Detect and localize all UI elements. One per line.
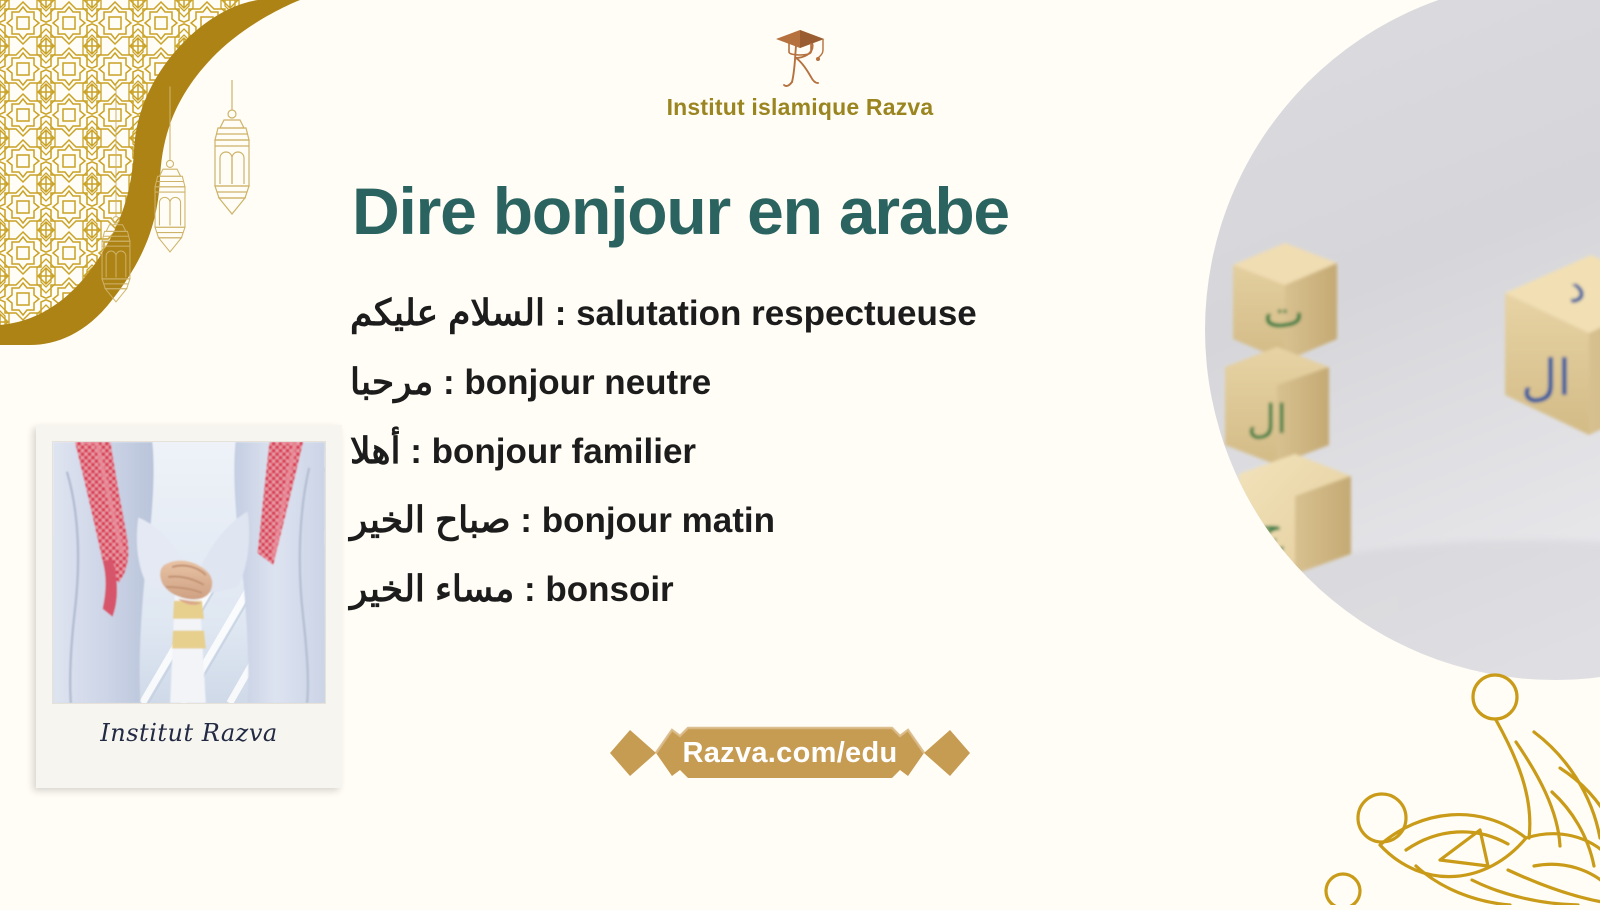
list-item: مرحبا : bonjour neutre	[350, 364, 1150, 400]
list-item: مساء الخير : bonsoir	[350, 571, 1150, 607]
polaroid-card: Institut Razva	[36, 425, 342, 788]
separator: :	[514, 570, 545, 609]
french-gloss: bonjour matin	[542, 501, 775, 540]
graduation-cap-r-monogram-icon	[765, 28, 835, 90]
list-item: السلام عليكم : salutation respectueuse	[350, 295, 1150, 331]
svg-text:ﺝ: ﺝ	[1259, 509, 1284, 552]
french-gloss: salutation respectueuse	[576, 294, 977, 333]
cta-label: Razva.com/edu	[682, 737, 897, 770]
separator: :	[511, 501, 542, 540]
polaroid-caption: Institut Razva	[52, 719, 326, 747]
arabic-greeting: مرحبا	[350, 361, 433, 402]
cta-button[interactable]: Razva.com/edu	[610, 714, 970, 792]
greetings-list: السلام عليكم : salutation respectueuse م…	[350, 295, 1150, 640]
separator: :	[433, 363, 464, 402]
list-item: أهلا : bonjour familier	[350, 433, 1150, 469]
svg-text:ﺍﻝ: ﺍﻝ	[1521, 350, 1571, 406]
gold-floral-mandala-icon	[1320, 670, 1600, 905]
svg-text:ﺍﻝ: ﺍﻝ	[1247, 397, 1287, 442]
arabic-greeting: أهلا	[350, 430, 400, 471]
arabic-greeting: السلام عليكم	[350, 292, 545, 333]
french-gloss: bonjour familier	[432, 432, 696, 471]
french-gloss: bonjour neutre	[464, 363, 711, 402]
handshake-photo	[52, 441, 326, 704]
arabic-greeting: مساء الخير	[350, 568, 514, 609]
separator: :	[400, 432, 431, 471]
french-gloss: bonsoir	[545, 570, 673, 609]
arabic-greeting: صباح الخير	[350, 499, 511, 540]
svg-text:ﺕ: ﺕ	[1263, 288, 1304, 337]
poster-canvas: ﺕ ﺍﻝ ﺝ ﺩ ﺍﻝ ﺏ	[0, 0, 1600, 900]
logo-text: Institut islamique Razva	[0, 94, 1600, 121]
separator: :	[545, 294, 576, 333]
list-item: صباح الخير : bonjour matin	[350, 502, 1150, 538]
brand-logo[interactable]: Institut islamique Razva	[0, 28, 1600, 121]
page-title: Dire bonjour en arabe	[352, 173, 1009, 249]
